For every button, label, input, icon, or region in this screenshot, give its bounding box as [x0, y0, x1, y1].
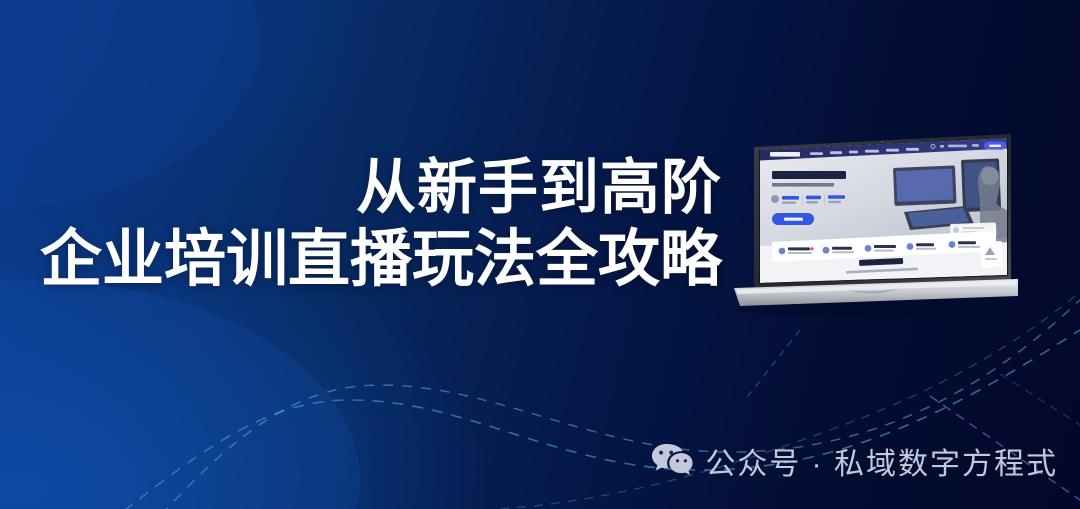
wechat-credit: 公众号 · 私域数字方程式: [651, 439, 1058, 483]
screen-nav-bar: [760, 138, 1007, 161]
wechat-icon: [651, 442, 693, 481]
screen-hero-text: [771, 171, 846, 225]
screen-side-widget: [980, 241, 1003, 268]
laptop-mockup: [718, 120, 1018, 330]
wechat-credit-text: 公众号 · 私域数字方程式: [705, 439, 1058, 483]
screen-section-heading: [846, 258, 918, 274]
headline-block: 从新手到高阶 企业培训直播玩法全攻略: [0, 152, 760, 296]
laptop-base: [734, 279, 1018, 306]
screen-feature-card: [772, 231, 996, 262]
headline-line-1: 从新手到高阶: [0, 152, 722, 224]
laptop-screen: [760, 138, 1010, 283]
laptop-lid: [754, 134, 1011, 288]
promo-banner: 从新手到高阶 企业培训直播玩法全攻略: [0, 0, 1080, 509]
headline-line-2: 企业培训直播玩法全攻略: [0, 224, 722, 296]
webcam-dot: [881, 141, 883, 143]
